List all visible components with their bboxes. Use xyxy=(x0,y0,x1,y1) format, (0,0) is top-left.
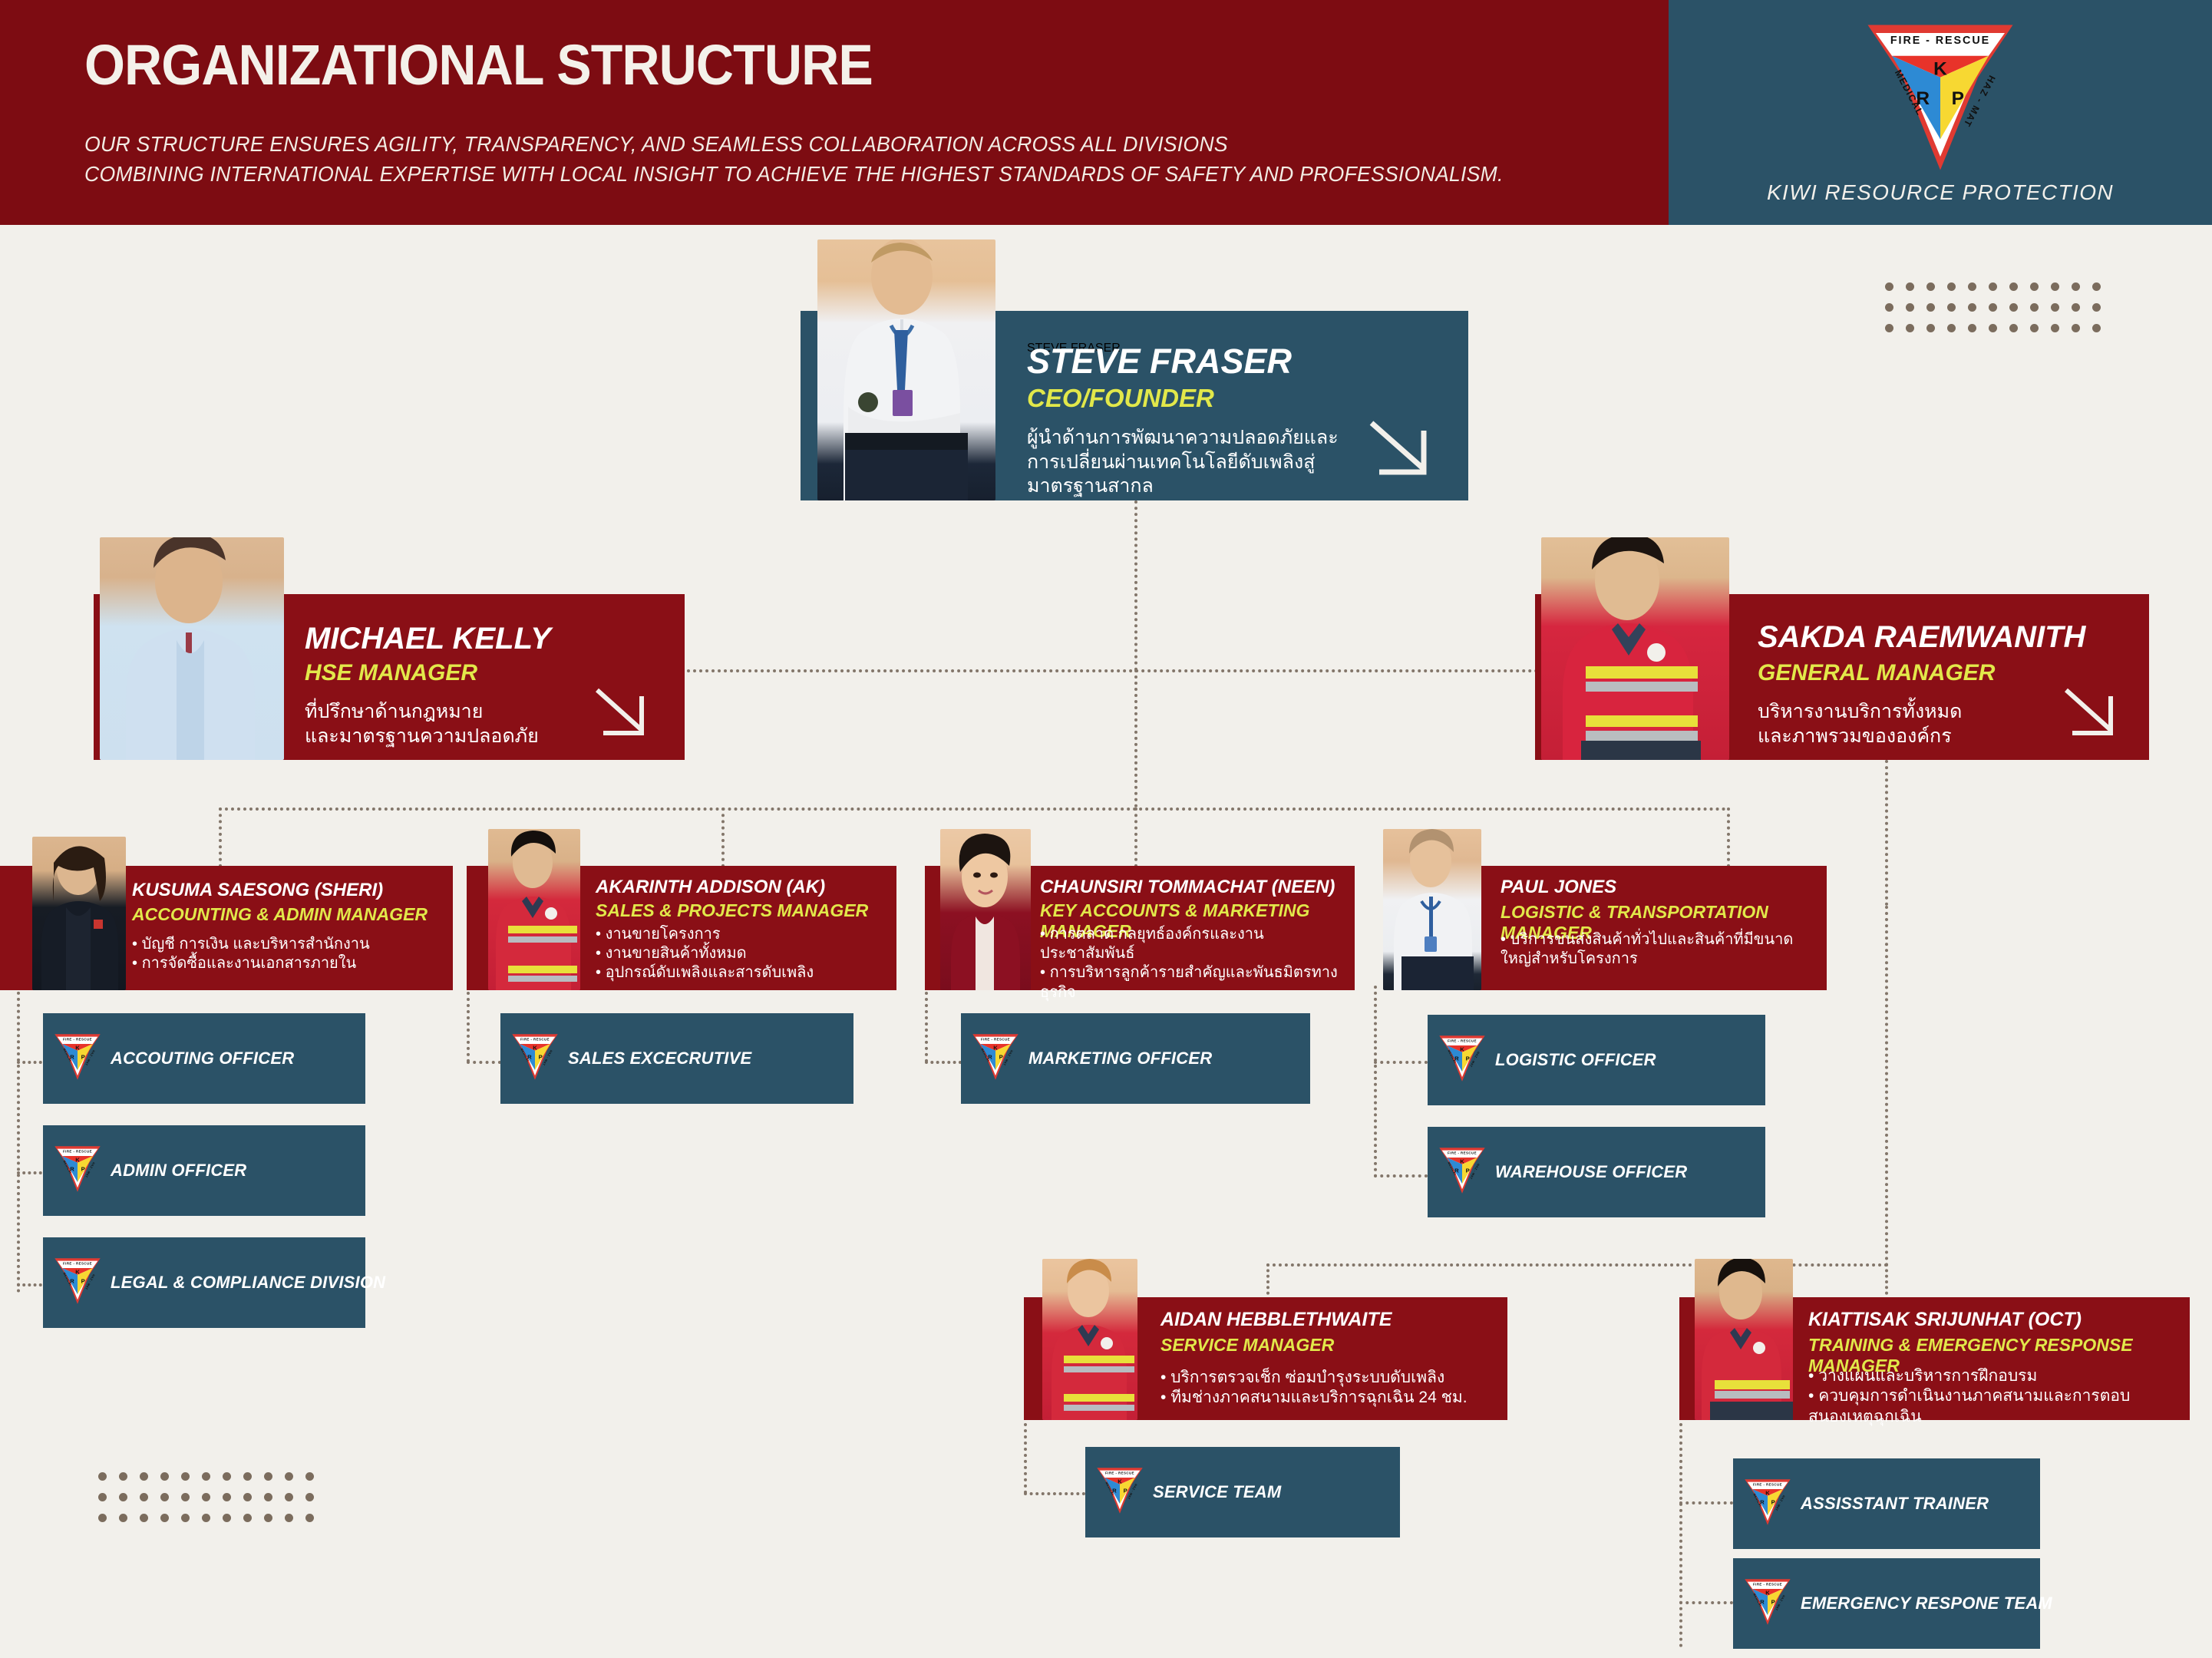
paul-bullets: • บริการขนส่งสินค้าทั่วไปและสินค้าที่มีข… xyxy=(1501,930,1808,969)
connector-aidan-r1 xyxy=(1024,1492,1085,1495)
ceo-description: ผู้นำด้านการพัฒนาความปลอดภัยและ การเปลี่… xyxy=(1027,426,1372,499)
svg-text:FIRE - RESCUE: FIRE - RESCUE xyxy=(520,1037,550,1041)
krp-logo-icon: FIRE - RESCUE K R P MEDICAL HAZ - MAT xyxy=(52,1032,103,1085)
chaunsiri-bullet-1: • การตลาด กลยุทธ์องค์กรและงานประชาสัมพัน… xyxy=(1040,925,1347,963)
arrow-down-right-icon xyxy=(1367,418,1438,485)
subbox-label: LEGAL & COMPLIANCE DIVISION xyxy=(111,1273,385,1293)
svg-text:P: P xyxy=(1771,1598,1775,1605)
connector-trunk-down xyxy=(1134,669,1137,808)
connector-chaunsiri-r1 xyxy=(925,1061,962,1064)
kusuma-role: ACCOUNTING & ADMIN MANAGER xyxy=(132,904,428,925)
svg-text:FIRE - RESCUE: FIRE - RESCUE xyxy=(63,1037,92,1041)
svg-text:FIRE - RESCUE: FIRE - RESCUE xyxy=(1448,1151,1477,1154)
svg-text:FIRE - RESCUE: FIRE - RESCUE xyxy=(63,1261,92,1265)
connector-sakda-down xyxy=(1885,760,1888,906)
subbox-label: MARKETING OFFICER xyxy=(1028,1049,1212,1068)
aidan-bullet-2: • ทีมช่างภาคสนามและบริการฉุกเฉิน 24 ชม. xyxy=(1160,1388,1491,1408)
krp-logo-icon: FIRE - RESCUE K R P MEDICAL HAZ - MAT xyxy=(1742,1577,1793,1630)
akarinth-bullet-2: • งานขายสินค้าทั้งหมด xyxy=(596,944,887,963)
connector-paul-r2 xyxy=(1374,1174,1428,1177)
svg-text:K: K xyxy=(993,1044,998,1051)
brand-panel: FIRE - RESCUE K R P MEDICAL HAZ - MAT KI… xyxy=(1669,0,2212,225)
connector-ceo-down xyxy=(1134,500,1137,671)
kusuma-bullet-1: • บัญชี การเงิน และบริหารสำนักงาน xyxy=(132,935,439,954)
photo-aidan-hebblethwaite xyxy=(1042,1259,1137,1420)
kusuma-bullet-2: • การจัดซื้อและงานเอกสารภายใน xyxy=(132,954,439,973)
subbox-assisstant-trainer[interactable]: FIRE - RESCUE K R P MEDICAL HAZ - MAT AS… xyxy=(1733,1458,2040,1549)
brand-name: KIWI RESOURCE PROTECTION xyxy=(1767,180,2114,205)
svg-text:FIRE - RESCUE: FIRE - RESCUE xyxy=(63,1149,92,1153)
akarinth-name: AKARINTH ADDISON (AK) xyxy=(596,877,825,898)
krp-logo-icon: FIRE - RESCUE K R P MEDICAL HAZ - MAT xyxy=(52,1257,103,1310)
krp-logo-icon: FIRE - RESCUE K R P MEDICAL HAZ - MAT xyxy=(52,1144,103,1197)
michael-kelly-role: HSE MANAGER xyxy=(305,660,477,686)
chaunsiri-bullet-2: • การบริหารลูกค้ารายสำคัญและพันธมิตรทางธ… xyxy=(1040,963,1347,1002)
aidan-bullet-1: • บริการตรวจเช็ก ซ่อมบำรุงระบบดับเพลิง xyxy=(1160,1368,1491,1388)
chaunsiri-name: CHAUNSIRI TOMMACHAT (NEEN) xyxy=(1040,877,1335,898)
photo-kusuma-saesong xyxy=(32,837,126,990)
photo-michael-kelly xyxy=(100,537,284,760)
subbox-label: SALES EXCECRUTIVE xyxy=(568,1049,751,1068)
card-kusuma-saesong[interactable]: KUSUMA SAESONG (SHERI) ACCOUNTING & ADMI… xyxy=(0,837,453,990)
michael-kelly-description: ที่ปรึกษาด้านกฎหมาย และมาตรฐานความปลอดภั… xyxy=(305,700,627,748)
ceo-name-text: STEVE FRASER xyxy=(1027,342,1292,381)
krp-logo-icon: FIRE - RESCUE K R P MEDICAL HAZ - MAT xyxy=(1742,1478,1793,1531)
krp-logo-icon: FIRE - RESCUE K R P MEDICAL HAZ - MAT xyxy=(1094,1466,1145,1519)
subbox-label: LOGISTIC OFFICER xyxy=(1495,1050,1656,1070)
card-sakda-raemwanith[interactable]: SAKDA RAEMWANITH GENERAL MANAGER บริหารง… xyxy=(1535,537,2149,760)
card-aidan-hebblethwaite[interactable]: AIDAN HEBBLETHWAITE SERVICE MANAGER • บร… xyxy=(1024,1259,1507,1420)
arrow-down-right-icon xyxy=(593,685,654,745)
connector-akarinth-r1 xyxy=(467,1061,501,1064)
subbox-sales-excecrutive[interactable]: FIRE - RESCUE K R P MEDICAL HAZ - MAT SA… xyxy=(500,1013,853,1104)
subbox-legal-compliance-division[interactable]: FIRE - RESCUE K R P MEDICAL HAZ - MAT LE… xyxy=(43,1237,365,1328)
page-subtitle: OUR STRUCTURE ENSURES AGILITY, TRANSPARE… xyxy=(84,129,1504,189)
connector-kiattisak-r2 xyxy=(1679,1601,1733,1604)
subtitle-line-1: OUR STRUCTURE ENSURES AGILITY, TRANSPARE… xyxy=(84,129,1504,159)
connector-paul-spine xyxy=(1374,986,1377,1177)
subbox-emergency-respone-team[interactable]: FIRE - RESCUE K R P MEDICAL HAZ - MAT EM… xyxy=(1733,1558,2040,1649)
svg-text:K: K xyxy=(1765,1489,1770,1496)
subbox-label: SERVICE TEAM xyxy=(1153,1482,1281,1502)
svg-text:FIRE - RESCUE: FIRE - RESCUE xyxy=(1448,1039,1477,1042)
connector-aidan-spine xyxy=(1024,1417,1027,1494)
aidan-role: SERVICE MANAGER xyxy=(1160,1335,1334,1356)
subbox-label: WAREHOUSE OFFICER xyxy=(1495,1162,1687,1182)
svg-text:FIRE - RESCUE: FIRE - RESCUE xyxy=(1753,1582,1782,1586)
svg-text:P: P xyxy=(1466,1167,1470,1174)
sakda-description: บริหารงานบริการทั้งหมด และภาพรวมขององค์ก… xyxy=(1758,700,2080,748)
akarinth-role: SALES & PROJECTS MANAGER xyxy=(596,900,868,921)
krp-logo-icon: FIRE - RESCUE K R P MEDICAL HAZ - MAT xyxy=(1437,1034,1487,1087)
connector-akarinth-spine xyxy=(467,986,470,1062)
svg-text:K: K xyxy=(1118,1478,1122,1485)
org-chart-page: ORGANIZATIONAL STRUCTURE OUR STRUCTURE E… xyxy=(0,0,2212,1658)
svg-text:P: P xyxy=(81,1053,85,1060)
photo-steve-fraser xyxy=(817,239,995,500)
krp-logo-icon: FIRE - RESCUE K R P MEDICAL HAZ - MAT xyxy=(1860,21,2021,174)
svg-text:P: P xyxy=(1124,1487,1127,1494)
krp-logo-icon: FIRE - RESCUE K R P MEDICAL HAZ - MAT xyxy=(970,1032,1021,1085)
connector-chaunsiri-spine xyxy=(925,986,928,1062)
chaunsiri-bullets: • การตลาด กลยุทธ์องค์กรและงานประชาสัมพัน… xyxy=(1040,925,1347,1002)
connector-kiattisak-r1 xyxy=(1679,1501,1733,1504)
kiattisak-name: KIATTISAK SRIJUNHAT (OCT) xyxy=(1808,1309,2082,1331)
kiattisak-bullets: • วางแผนและบริหารการฝึกอบรม • ควบคุมการด… xyxy=(1808,1366,2165,1427)
card-paul-jones[interactable]: PAUL JONES LOGISTIC & TRANSPORTATION MAN… xyxy=(1374,829,1827,990)
kusuma-bullets: • บัญชี การเงิน และบริหารสำนักงาน • การจ… xyxy=(132,935,439,973)
svg-text:FIRE - RESCUE: FIRE - RESCUE xyxy=(1890,35,1990,47)
dot-grid-top-right xyxy=(1885,282,2108,352)
subbox-label: ACCOUTING OFFICER xyxy=(111,1049,294,1068)
photo-paul-jones xyxy=(1383,829,1481,990)
svg-text:P: P xyxy=(539,1053,543,1060)
svg-text:K: K xyxy=(75,1044,80,1051)
connector-kiattisak-spine xyxy=(1679,1417,1682,1647)
aidan-name: AIDAN HEBBLETHWAITE xyxy=(1160,1309,1392,1331)
card-akarinth-addison[interactable]: AKARINTH ADDISON (AK) SALES & PROJECTS M… xyxy=(467,829,896,990)
svg-text:K: K xyxy=(533,1044,537,1051)
svg-text:P: P xyxy=(999,1053,1003,1060)
paul-bullet-1: • บริการขนส่งสินค้าทั่วไปและสินค้าที่มีข… xyxy=(1501,930,1808,969)
subtitle-line-2: COMBINING INTERNATIONAL EXPERTISE WITH L… xyxy=(84,159,1504,189)
dot-grid-bottom-left xyxy=(98,1472,321,1541)
svg-text:FIRE - RESCUE: FIRE - RESCUE xyxy=(981,1037,1010,1041)
ceo-role: CEO/FOUNDER xyxy=(1027,384,1214,413)
connector-managers-horizontal xyxy=(219,808,1727,811)
svg-text:K: K xyxy=(75,1156,80,1163)
card-chaunsiri-tommachat[interactable]: CHAUNSIRI TOMMACHAT (NEEN) KEY ACCOUNTS … xyxy=(925,829,1355,990)
kusuma-name: KUSUMA SAESONG (SHERI) xyxy=(132,880,383,901)
header-banner: ORGANIZATIONAL STRUCTURE OUR STRUCTURE E… xyxy=(0,0,1669,225)
sakda-name: SAKDA RAEMWANITH xyxy=(1758,620,2085,655)
svg-text:FIRE - RESCUE: FIRE - RESCUE xyxy=(1105,1471,1134,1475)
sakda-role: GENERAL MANAGER xyxy=(1758,660,1995,686)
kiattisak-bullet-2: • ควบคุมการดำเนินงานภาคสนามและการตอบสนอง… xyxy=(1808,1386,2165,1427)
svg-text:FIRE - RESCUE: FIRE - RESCUE xyxy=(1753,1482,1782,1486)
akarinth-bullet-1: • งานขายโครงการ xyxy=(596,925,887,944)
connector-kusuma-spine xyxy=(17,986,20,1293)
aidan-bullets: • บริการตรวจเช็ก ซ่อมบำรุงระบบดับเพลิง •… xyxy=(1160,1368,1491,1409)
connector-paul-r1 xyxy=(1374,1061,1428,1064)
svg-text:K: K xyxy=(1765,1589,1770,1596)
michael-kelly-name: MICHAEL KELLY xyxy=(305,622,551,656)
svg-text:P: P xyxy=(81,1277,85,1284)
subbox-service-team[interactable]: FIRE - RESCUE K R P MEDICAL HAZ - MAT SE… xyxy=(1085,1447,1400,1537)
akarinth-bullets: • งานขายโครงการ • งานขายสินค้าทั้งหมด • … xyxy=(596,925,887,983)
photo-chaunsiri-tommachat xyxy=(940,829,1031,990)
svg-text:K: K xyxy=(1933,58,1947,79)
paul-name: PAUL JONES xyxy=(1501,877,1616,898)
krp-logo-icon: FIRE - RESCUE K R P MEDICAL HAZ - MAT xyxy=(1437,1146,1487,1199)
subbox-accouting-officer[interactable]: FIRE - RESCUE K R P MEDICAL HAZ - MAT AC… xyxy=(43,1013,365,1104)
page-title: ORGANIZATIONAL STRUCTURE xyxy=(84,32,873,97)
subbox-logistic-officer[interactable]: FIRE - RESCUE K R P MEDICAL HAZ - MAT LO… xyxy=(1428,1015,1765,1105)
akarinth-bullet-3: • อุปกรณ์ดับเพลิงและสารดับเพลิง xyxy=(596,963,887,983)
connector-right-long-spine xyxy=(1885,906,1888,1267)
svg-text:P: P xyxy=(1466,1055,1470,1062)
arrow-down-right-icon xyxy=(2062,685,2123,745)
svg-text:K: K xyxy=(1460,1158,1464,1164)
svg-text:P: P xyxy=(81,1165,85,1172)
subbox-label: EMERGENCY RESPONE TEAM xyxy=(1801,1594,2052,1613)
svg-text:P: P xyxy=(1771,1498,1775,1505)
photo-kiattisak-srijunhat xyxy=(1695,1259,1793,1420)
kiattisak-bullet-1: • วางแผนและบริหารการฝึกอบรม xyxy=(1808,1366,2165,1386)
svg-text:K: K xyxy=(1460,1045,1464,1052)
subbox-marketing-officer[interactable]: FIRE - RESCUE K R P MEDICAL HAZ - MAT MA… xyxy=(961,1013,1310,1104)
subbox-admin-officer[interactable]: FIRE - RESCUE K R P MEDICAL HAZ - MAT AD… xyxy=(43,1125,365,1216)
subbox-label: ASSISSTANT TRAINER xyxy=(1801,1494,1989,1514)
photo-sakda-raemwanith xyxy=(1541,537,1729,760)
card-ceo[interactable]: STEVE FRASER STEVE FRASER CEO/FOUNDER ผู… xyxy=(801,239,1468,500)
subbox-label: ADMIN OFFICER xyxy=(111,1161,246,1181)
svg-text:K: K xyxy=(75,1268,80,1275)
card-kiattisak-srijunhat[interactable]: KIATTISAK SRIJUNHAT (OCT) TRAINING & EME… xyxy=(1679,1259,2190,1420)
krp-logo-icon: FIRE - RESCUE K R P MEDICAL HAZ - MAT xyxy=(510,1032,560,1085)
subbox-warehouse-officer[interactable]: FIRE - RESCUE K R P MEDICAL HAZ - MAT WA… xyxy=(1428,1127,1765,1217)
card-michael-kelly[interactable]: MICHAEL KELLY HSE MANAGER ที่ปรึกษาด้านก… xyxy=(94,537,685,760)
svg-text:P: P xyxy=(1952,88,1964,108)
photo-akarinth-addison xyxy=(488,829,580,990)
